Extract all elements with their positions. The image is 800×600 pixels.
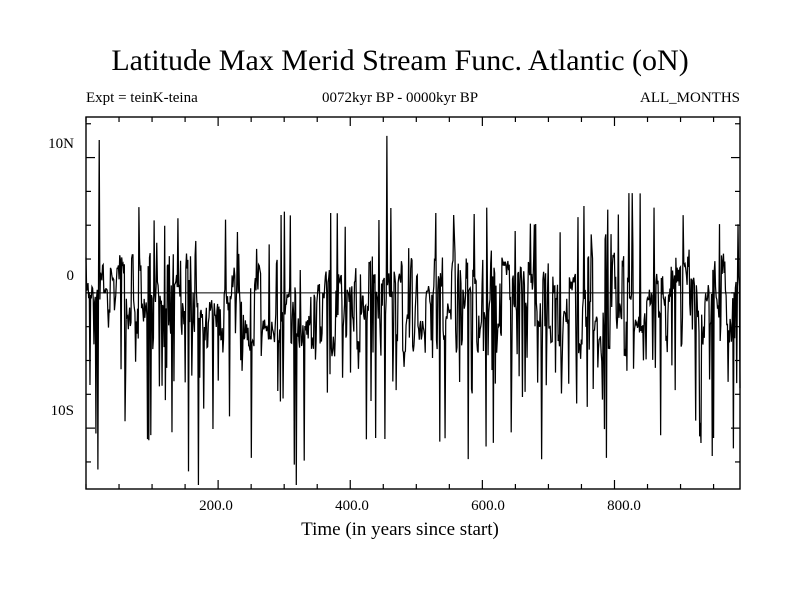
x-tick-label-800: 800.0 (584, 497, 664, 515)
months-label: ALL_MONTHS (640, 88, 740, 108)
x-axis-title: Time (in years since start) (0, 518, 800, 542)
plot-frame (86, 117, 740, 489)
x-tick-label-600: 600.0 (448, 497, 528, 515)
x-tick-label-200: 200.0 (176, 497, 256, 515)
page-title: Latitude Max Merid Stream Func. Atlantic… (0, 44, 800, 78)
y-tick-label-10s: 10S (18, 402, 74, 420)
y-tick-label-10n: 10N (18, 135, 74, 153)
plot-figure: Latitude Max Merid Stream Func. Atlantic… (0, 0, 800, 600)
y-tick-label-0: 0 (18, 267, 74, 285)
x-tick-label-400: 400.0 (312, 497, 392, 515)
axis-layer (86, 117, 740, 489)
series-layer (86, 136, 740, 485)
